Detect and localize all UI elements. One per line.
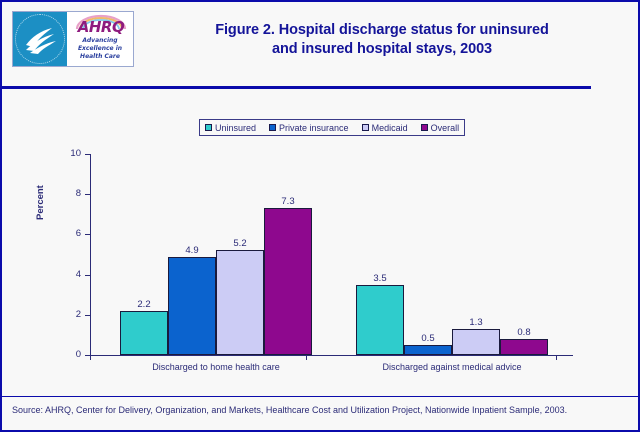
hhs-seal-icon — [13, 12, 67, 66]
bar-value-label: 0.8 — [517, 327, 530, 338]
bar-value-label: 3.5 — [373, 273, 386, 284]
y-axis-tick: 10 — [85, 154, 90, 155]
ahrq-tagline: Advancing Excellence in Health Care — [67, 37, 133, 61]
bar-private-insurance[interactable]: 0.5 — [404, 345, 452, 355]
bar-medicaid[interactable]: 5.2 — [216, 250, 264, 355]
figure-page: AHRQ Advancing Excellence in Health Care… — [0, 0, 640, 432]
bar-medicaid[interactable]: 1.3 — [452, 329, 500, 355]
y-axis-tick: 2 — [85, 315, 90, 316]
ahrq-wordmark-block: AHRQ Advancing Excellence in Health Care — [67, 12, 133, 66]
ahrq-logo: AHRQ Advancing Excellence in Health Care — [12, 11, 134, 67]
bar-value-label: 4.9 — [185, 245, 198, 256]
bar-overall[interactable]: 7.3 — [264, 208, 312, 355]
hhs-eagle-icon — [22, 23, 58, 55]
legend-item-medicaid[interactable]: Medicaid — [362, 123, 408, 133]
x-axis-tick — [306, 355, 307, 360]
bar-value-label: 1.3 — [469, 317, 482, 328]
figure-title-line1: Figure 2. Hospital discharge status for … — [142, 21, 622, 40]
legend-swatch-icon — [421, 124, 428, 131]
bar-value-label: 5.2 — [233, 238, 246, 249]
x-axis-tick — [90, 355, 91, 360]
bar-overall[interactable]: 0.8 — [500, 339, 548, 355]
legend-item-overall[interactable]: Overall — [421, 123, 460, 133]
figure-title-line2: and insured hospital stays, 2003 — [142, 40, 622, 59]
header-divider — [2, 86, 591, 89]
bar-value-label: 0.5 — [421, 333, 434, 344]
chart-plot-area: 02468102.24.95.27.3Discharged to home he… — [90, 154, 573, 355]
y-axis-tick-label: 6 — [76, 228, 81, 239]
y-axis-tick-label: 2 — [76, 309, 81, 320]
legend-item-label: Medicaid — [372, 123, 408, 133]
figure-header: AHRQ Advancing Excellence in Health Care… — [2, 2, 638, 78]
legend-item-label: Uninsured — [215, 123, 256, 133]
y-axis-tick: 8 — [85, 194, 90, 195]
legend-swatch-icon — [205, 124, 212, 131]
y-axis-tick: 6 — [85, 234, 90, 235]
y-axis-tick: 4 — [85, 275, 90, 276]
bar-uninsured[interactable]: 3.5 — [356, 285, 404, 355]
ahrq-tagline-line3: Health Care — [67, 53, 133, 61]
x-axis-tick — [556, 355, 557, 360]
y-axis-tick-label: 8 — [76, 188, 81, 199]
y-axis-tick-label: 4 — [76, 269, 81, 280]
x-axis-line — [90, 355, 573, 356]
ahrq-tagline-line1: Advancing — [67, 37, 133, 45]
bar-private-insurance[interactable]: 4.9 — [168, 257, 216, 355]
legend-item-private-insurance[interactable]: Private insurance — [269, 123, 349, 133]
figure-title: Figure 2. Hospital discharge status for … — [142, 21, 622, 59]
ahrq-wordmark-text: AHRQ — [72, 20, 130, 35]
bar-value-label: 2.2 — [137, 299, 150, 310]
x-axis-category-label: Discharged to home health care — [152, 362, 280, 372]
legend-swatch-icon — [269, 124, 276, 131]
chart-legend: UninsuredPrivate insuranceMedicaidOveral… — [199, 119, 465, 136]
y-axis-tick-label: 0 — [76, 349, 81, 360]
legend-swatch-icon — [362, 124, 369, 131]
y-axis-tick-label: 10 — [70, 148, 81, 159]
ahrq-tagline-line2: Excellence in — [67, 45, 133, 53]
y-axis-line — [90, 154, 91, 355]
source-note: Source: AHRQ, Center for Delivery, Organ… — [12, 405, 567, 415]
footer-divider — [2, 396, 638, 397]
bar-value-label: 7.3 — [281, 196, 294, 207]
legend-item-uninsured[interactable]: Uninsured — [205, 123, 256, 133]
legend-item-label: Private insurance — [279, 123, 349, 133]
y-axis-title: Percent — [35, 185, 46, 220]
bar-uninsured[interactable]: 2.2 — [120, 311, 168, 355]
legend-item-label: Overall — [431, 123, 460, 133]
x-axis-category-label: Discharged against medical advice — [382, 362, 521, 372]
